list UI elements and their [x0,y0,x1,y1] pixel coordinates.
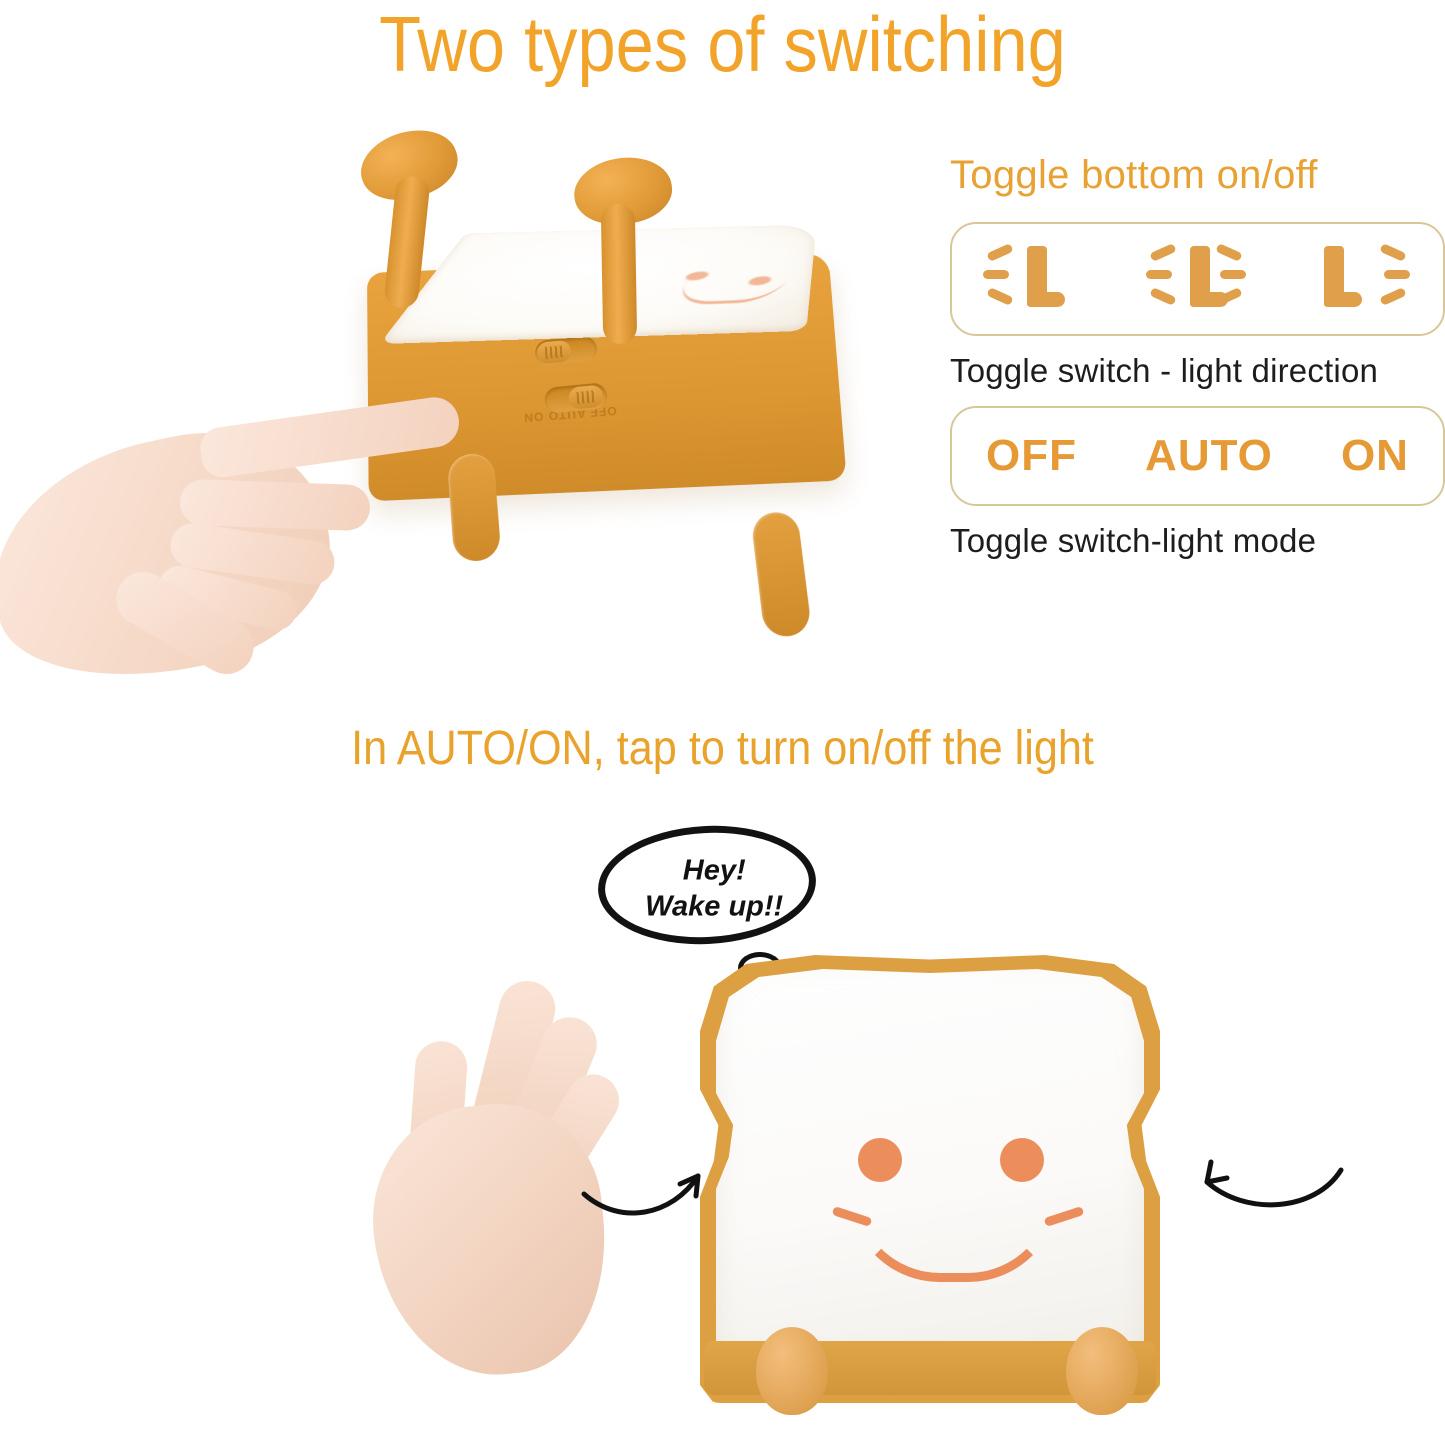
speech-bubble-text: Hey! Wake up!! [605,853,823,925]
ray [1146,270,1172,279]
arrow-right-to-lamp [1195,1150,1345,1230]
smiley-mouth [669,278,788,305]
ray [1379,243,1406,262]
lamp-glyph-foot [1324,292,1362,307]
light-mode-box: OFF AUTO ON [950,406,1445,506]
index-finger [198,394,462,480]
ray [1150,287,1177,306]
mode-switch-knob[interactable] [568,385,604,410]
right-column-title: Toggle bottom on/off [950,150,1445,200]
speech-line-1: Hey! [605,853,823,889]
ray [986,243,1013,262]
speech-line-2: Wake up!! [605,889,823,925]
lamp-smiley-face [662,263,814,313]
toast-foot-left [756,1327,828,1415]
product-photo-bottom-view: ⊐| ⊐|⊏ |⊏ OFF AUTO ON [300,120,920,540]
mode-auto-label: AUTO [1145,431,1273,481]
mode-on-label: ON [1341,431,1409,481]
smiley-eye-left [683,271,710,281]
page-title: Two types of switching [87,0,1359,92]
hand-pressing-switch [0,364,510,724]
light-mode-caption: Toggle switch-light mode [950,520,1445,562]
light-direction-caption: Toggle switch - light direction [950,350,1445,392]
lamp-glyph-foot [1190,292,1228,307]
lamp-foot-stem-right [568,158,678,358]
toast-light-panel [716,969,1144,1369]
ray [1150,243,1177,262]
infographic-page: Two types of switching ⊐| ⊐|⊏ |⊏ OFF AUT… [0,0,1445,1452]
lamp-side-foot-right [750,510,812,638]
ray [986,287,1013,306]
stem-stalk [601,204,637,345]
arrow-hand-to-lamp [580,1150,710,1230]
right-info-column: Toggle bottom on/off [950,150,1445,562]
speech-bubble: Hey! Wake up!! [595,820,819,949]
ray [1216,243,1243,262]
ray [1379,287,1406,306]
section-subtitle: In AUTO/ON, tap to turn on/off the light [72,718,1373,780]
lamp-foot-stem-left [354,132,464,332]
ray [983,270,1009,279]
toast-smiley-eye-left [858,1138,902,1182]
middle-finger [179,479,370,532]
light-both-icon [1138,240,1256,318]
toast-smiley-eye-right [1000,1138,1044,1182]
light-direction-box [950,222,1445,336]
toast-foot-right [1066,1327,1138,1415]
ray [1384,270,1410,279]
light-left-icon [975,240,1093,318]
direction-switch-knob[interactable] [536,340,572,365]
mode-off-label: OFF [986,431,1077,481]
ray [1220,270,1246,279]
light-right-icon [1302,240,1420,318]
lamp-glyph-foot [1027,292,1065,307]
